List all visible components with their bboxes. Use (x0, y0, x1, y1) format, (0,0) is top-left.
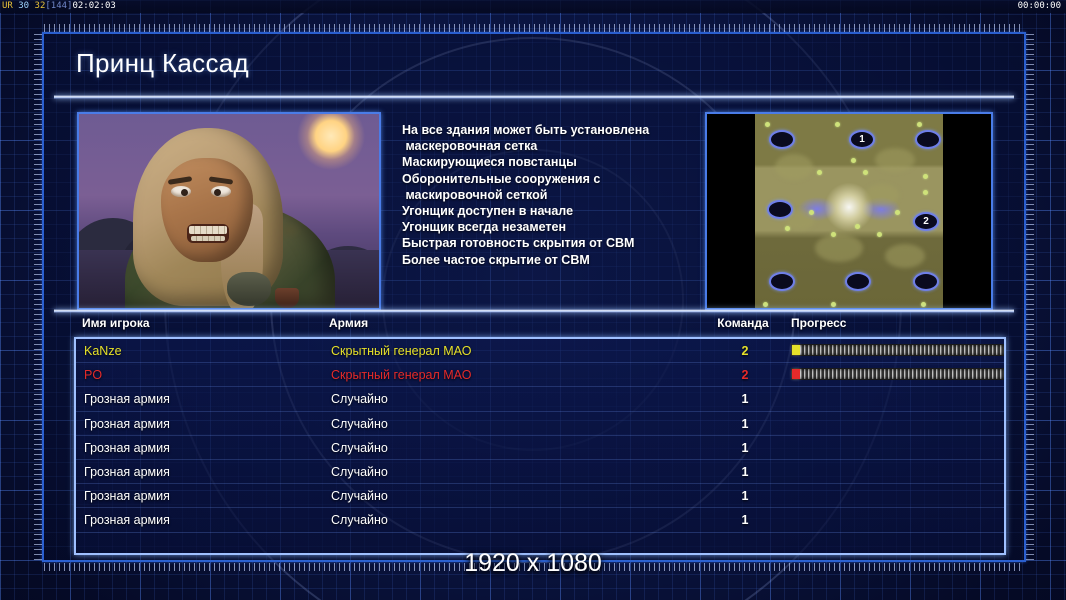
map-tree-marker (831, 302, 836, 307)
map-tree-marker (877, 232, 882, 237)
status-num1: 30 (18, 1, 29, 11)
map-start-position[interactable] (769, 272, 795, 291)
column-header-army: Армия (329, 316, 368, 330)
map-tree-marker (765, 122, 770, 127)
description-line: Более частое скрытие от СВМ (402, 252, 702, 268)
resolution-overlay: 1920 x 1080 (0, 549, 1066, 578)
map-start-position[interactable] (915, 130, 941, 149)
table-row[interactable]: KaNzeСкрытный генерал МАО2 (76, 339, 1004, 363)
faction-description-list: На все здания может быть установлена мас… (402, 122, 702, 268)
player-name: Грозная армия (84, 417, 170, 431)
map-tree-marker (895, 210, 900, 215)
map-start-position-label: 2 (923, 217, 929, 227)
portrait-teapot (227, 272, 271, 306)
player-team[interactable]: 1 (717, 489, 773, 503)
portrait-pupil (181, 189, 188, 196)
divider-title (54, 95, 1014, 99)
status-num2: 32 (35, 1, 46, 11)
player-army[interactable]: Случайно (331, 417, 388, 431)
player-name: Грозная армия (84, 392, 170, 406)
table-row[interactable]: Грозная армияСлучайно1 (76, 484, 1004, 508)
player-name: KaNze (84, 344, 122, 358)
map-tree-marker (863, 170, 868, 175)
map-tree-marker (763, 302, 768, 307)
map-terrain-blob (885, 244, 925, 268)
status-bar: UR 30 32[144]02:02:03 00:00:00 (0, 0, 1066, 13)
general-portrait (77, 112, 381, 310)
divider-middle (54, 309, 1014, 313)
portrait-face (161, 158, 253, 262)
description-line: На все здания может быть установлена (402, 122, 702, 138)
player-progress (791, 465, 1006, 477)
portrait-brow (168, 176, 192, 185)
table-row[interactable]: Грозная армияСлучайно1 (76, 460, 1004, 484)
player-progress (791, 489, 1006, 501)
table-row[interactable]: Грозная армияСлучайно1 (76, 436, 1004, 460)
column-header-team: Команда (715, 316, 771, 330)
player-team[interactable]: 1 (717, 417, 773, 431)
player-team[interactable]: 1 (717, 465, 773, 479)
player-team[interactable]: 1 (717, 513, 773, 527)
player-progress (791, 392, 1006, 404)
table-row[interactable]: Грозная армияСлучайно1 (76, 387, 1004, 411)
player-name: Грозная армия (84, 465, 170, 479)
map-preview[interactable]: 12 (705, 112, 993, 310)
progress-bar (791, 344, 1006, 356)
portrait-eye (171, 186, 191, 197)
player-army[interactable]: Случайно (331, 513, 388, 527)
player-name: Грозная армия (84, 441, 170, 455)
player-team[interactable]: 1 (717, 392, 773, 406)
portrait-eye (211, 186, 231, 197)
description-line: Угонщик доступен в начале (402, 203, 702, 219)
faction-info-section: На все здания может быть установлена мас… (44, 100, 1024, 306)
portrait-cup (275, 288, 299, 308)
map-terrain: 12 (755, 114, 943, 308)
map-tree-marker (851, 158, 856, 163)
table-row[interactable]: Грозная армияСлучайно1 (76, 412, 1004, 436)
player-name: PO (84, 368, 102, 382)
map-preview-image: 12 (707, 114, 991, 308)
map-tree-marker (923, 174, 928, 179)
player-army[interactable]: Скрытный генерал МАО (331, 368, 471, 382)
player-progress (791, 344, 1006, 356)
player-army[interactable]: Случайно (331, 441, 388, 455)
map-start-position[interactable] (913, 272, 939, 291)
progress-bar-fill (792, 345, 800, 355)
map-terrain-blob (875, 148, 915, 172)
description-line: Быстрая готовность скрытия от СВМ (402, 235, 702, 251)
map-tree-marker (817, 170, 822, 175)
ruler-top (44, 24, 1024, 32)
player-progress (791, 441, 1006, 453)
map-tree-marker (809, 210, 814, 215)
player-team[interactable]: 2 (717, 368, 773, 382)
map-start-position[interactable]: 1 (849, 130, 875, 149)
map-start-position[interactable] (767, 200, 793, 219)
status-label: UR (2, 1, 13, 11)
map-tree-marker (921, 302, 926, 307)
title-zone: Принц Кассад (44, 34, 1024, 96)
portrait-brow (209, 176, 233, 184)
map-start-position[interactable] (845, 272, 871, 291)
player-table-header: Имя игрока Армия Команда Прогресс (74, 316, 1006, 338)
column-header-progress: Прогресс (791, 316, 846, 330)
table-row[interactable]: Грозная армияСлучайно1 (76, 508, 1004, 532)
map-tree-marker (917, 122, 922, 127)
description-line: Маскирующиеся повстанцы (402, 154, 702, 170)
player-army[interactable]: Случайно (331, 392, 388, 406)
status-bar-left: UR 30 32[144]02:02:03 (2, 0, 116, 13)
page-title: Принц Кассад (76, 48, 249, 79)
game-lobby-screen: UR 30 32[144]02:02:03 00:00:00 Принц Кас… (0, 0, 1066, 600)
player-name: Грозная армия (84, 513, 170, 527)
description-line: Оборонительные сооружения с (402, 171, 702, 187)
map-tree-marker (831, 232, 836, 237)
player-team[interactable]: 2 (717, 344, 773, 358)
player-army[interactable]: Скрытный генерал МАО (331, 344, 471, 358)
description-line: маскеровочная сетка (402, 138, 702, 154)
status-bracket: [144] (45, 1, 72, 11)
map-tree-marker (835, 122, 840, 127)
map-start-position[interactable] (769, 130, 795, 149)
ruler-right (1026, 34, 1034, 560)
map-terrain-blob (815, 234, 863, 262)
progress-bar-fill (792, 369, 800, 379)
column-header-name: Имя игрока (82, 316, 150, 330)
map-start-position[interactable]: 2 (913, 212, 939, 231)
map-terrain-blob (865, 184, 899, 206)
player-army[interactable]: Случайно (331, 465, 388, 479)
map-terrain-blob (775, 154, 813, 180)
map-tree-marker (923, 190, 928, 195)
player-army[interactable]: Случайно (331, 489, 388, 503)
portrait-teeth-lower (191, 236, 225, 241)
progress-bar (791, 368, 1006, 380)
player-team[interactable]: 1 (717, 441, 773, 455)
description-line: Угонщик всегда незаметен (402, 219, 702, 235)
portrait-mouth (187, 224, 229, 243)
ruler-left (34, 34, 42, 560)
player-progress (791, 368, 1006, 380)
map-start-position-label: 1 (859, 135, 865, 145)
map-tree-marker (855, 224, 860, 229)
player-table-body: KaNzeСкрытный генерал МАО2POСкрытный ген… (74, 337, 1006, 555)
map-tree-marker (785, 226, 790, 231)
portrait-pupil (214, 189, 221, 196)
player-progress (791, 417, 1006, 429)
table-row[interactable]: POСкрытный генерал МАО2 (76, 363, 1004, 387)
player-name: Грозная армия (84, 489, 170, 503)
lobby-panel: Принц Кассад (42, 32, 1026, 562)
player-progress (791, 513, 1006, 525)
status-clock-left: 02:02:03 (72, 1, 115, 11)
player-table-section: Имя игрока Армия Команда Прогресс KaNzeС… (44, 316, 1024, 556)
portrait-artwork (79, 114, 379, 308)
portrait-teeth-upper (189, 226, 227, 234)
description-line: маскировочной сеткой (402, 187, 702, 203)
status-clock-right: 00:00:00 (1018, 0, 1061, 13)
